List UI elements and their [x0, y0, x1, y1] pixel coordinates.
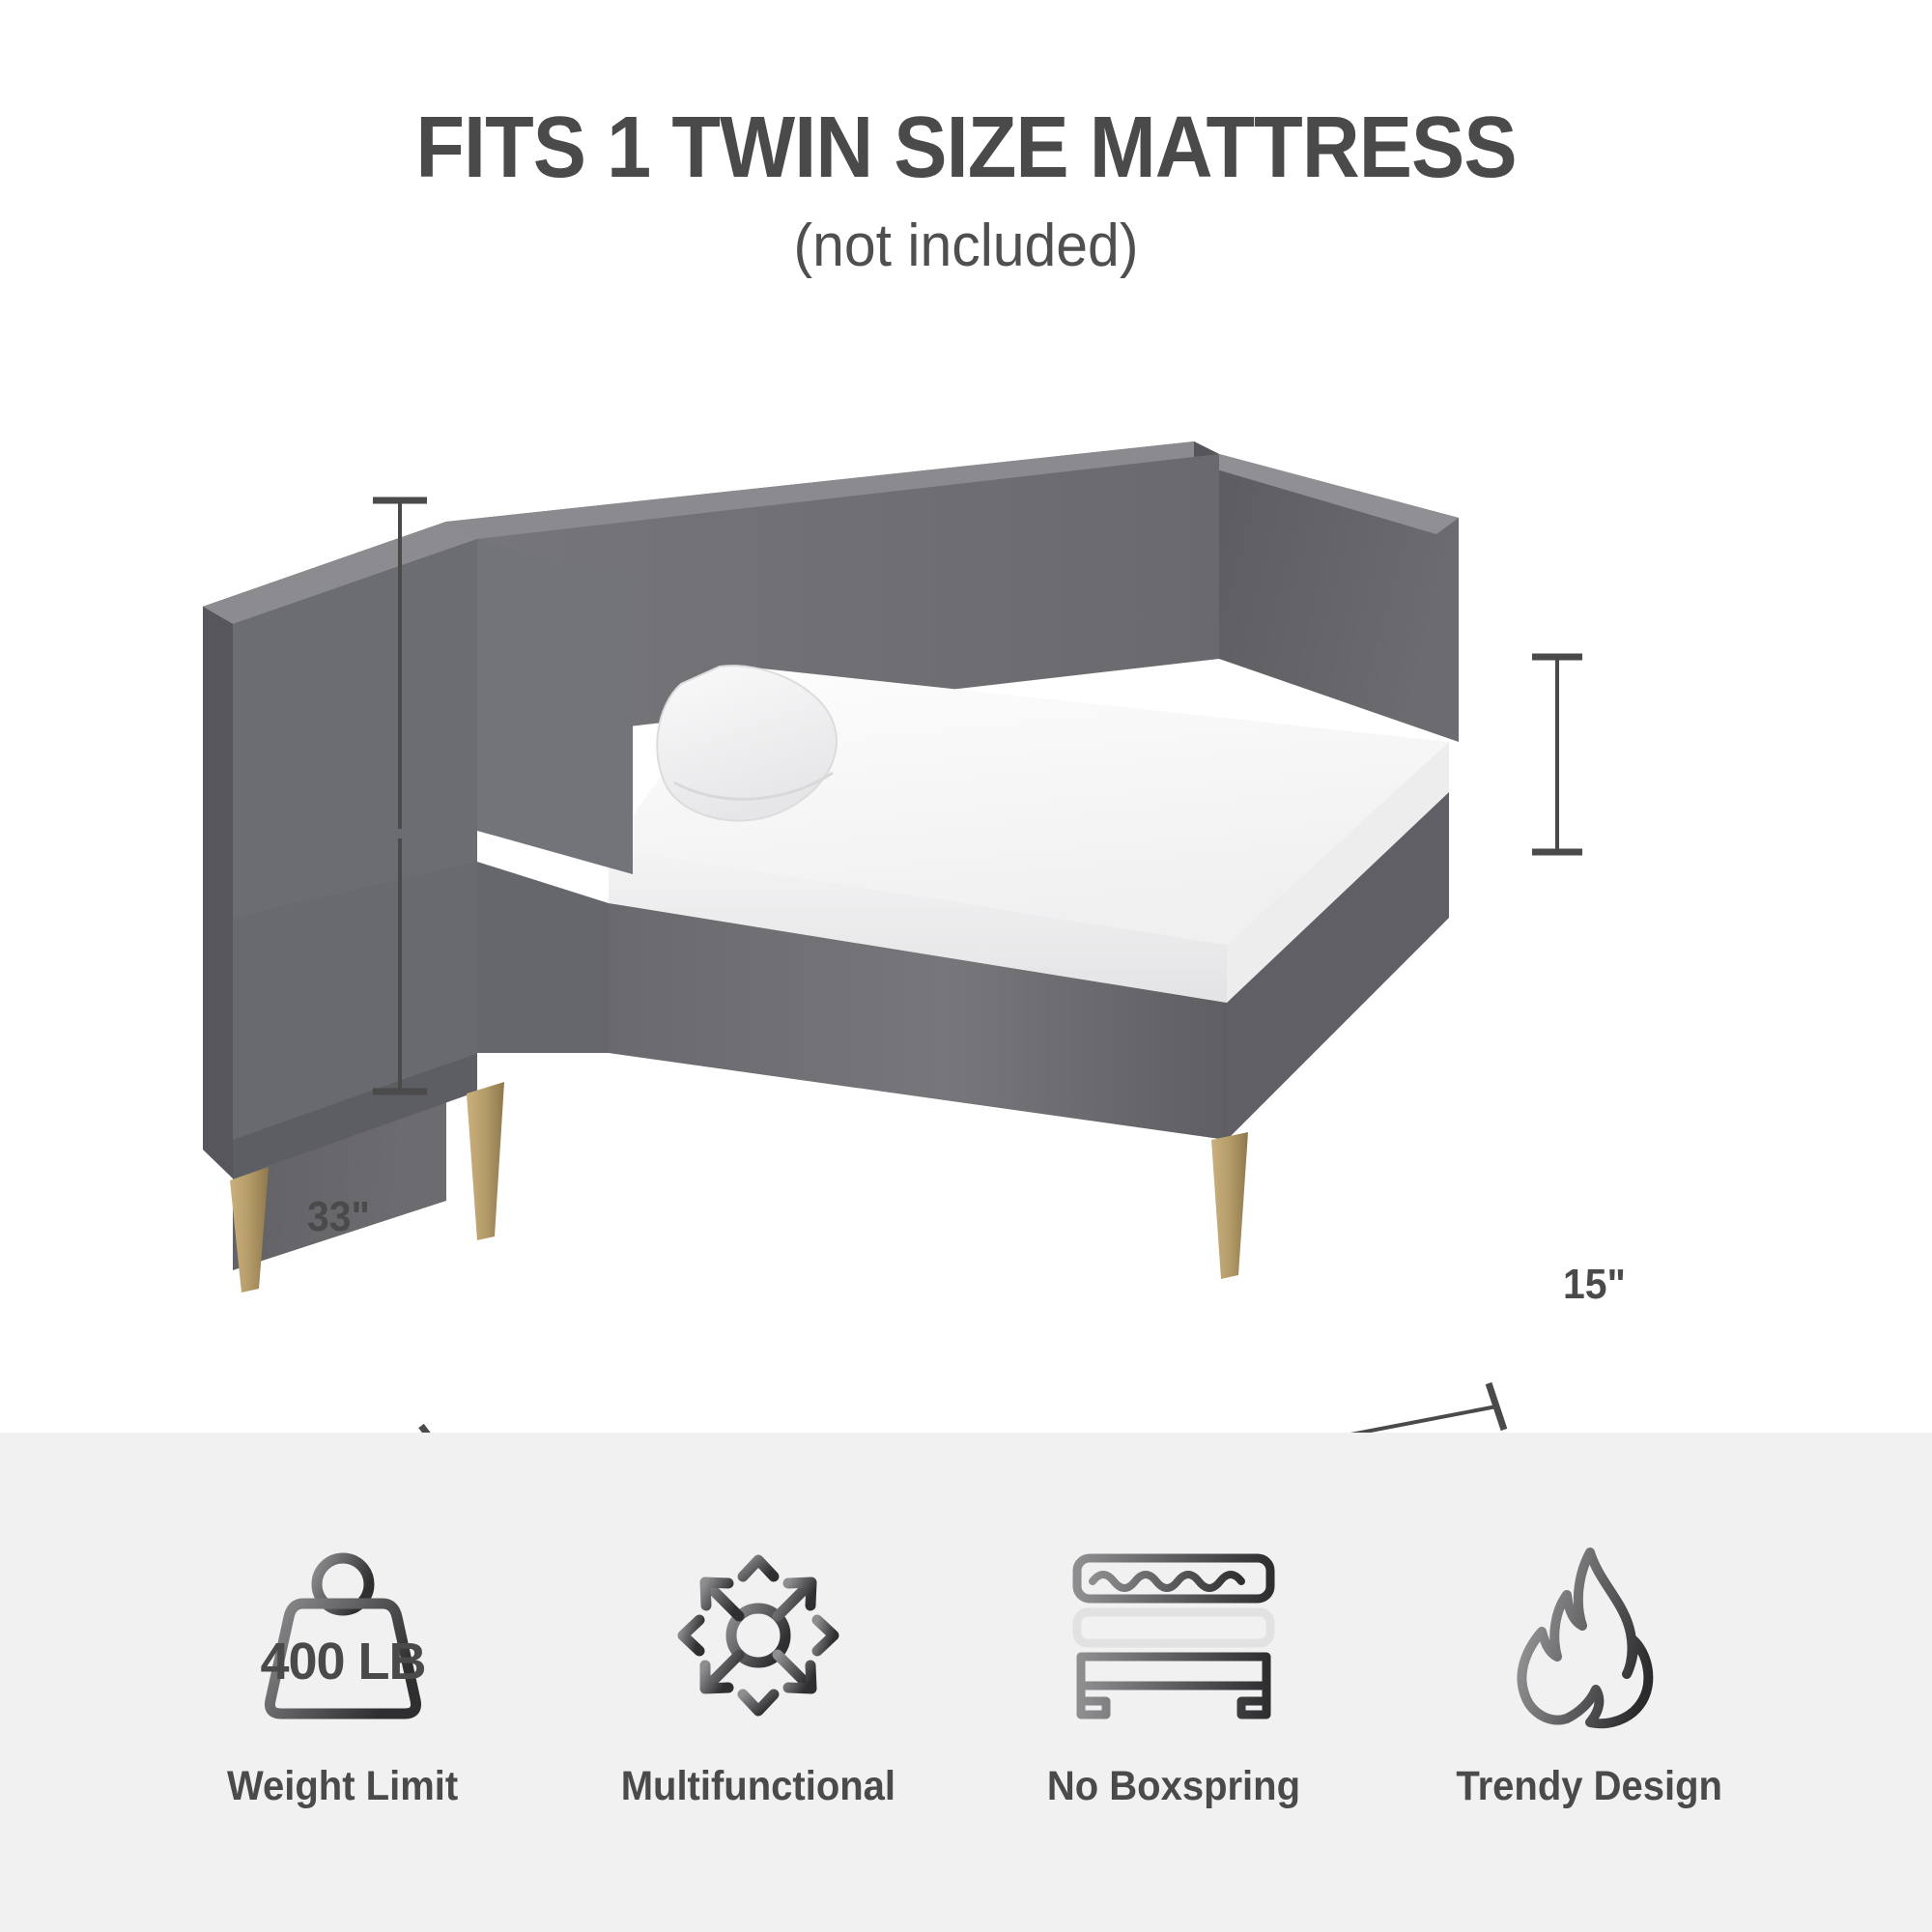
expand-arrows-icon [667, 1529, 850, 1742]
weight-badge-text: 400 LB [260, 1633, 425, 1690]
weight-icon: 400 LB [251, 1529, 435, 1742]
daybed-illustration [0, 377, 1932, 1433]
left-arm-outer-edge [203, 607, 233, 1179]
leg-front-right [1211, 1132, 1248, 1279]
feature-trendy-design: Trendy Design [1381, 1433, 1797, 1810]
infographic-page: FITS 1 TWIN SIZE MATTRESS (not included) [0, 0, 1932, 1932]
leg-front-left [230, 1167, 269, 1293]
feature-label-weight-limit: Weight Limit [227, 1763, 458, 1810]
feature-band: 400 LB Weight Limit [0, 1433, 1932, 1932]
flame-icon [1507, 1529, 1671, 1742]
feature-label-multifunctional: Multifunctional [621, 1763, 895, 1810]
page-subtitle: (not included) [48, 216, 1884, 276]
feature-label-no-boxspring: No Boxspring [1047, 1763, 1300, 1810]
product-stage: 33" 15" 78" 41.5" Pictured with a 6" mat… [0, 377, 1932, 1433]
dimension-label-height: 33" [307, 1193, 370, 1241]
feature-multifunctional: Multifunctional [551, 1433, 966, 1810]
feature-no-boxspring: No Boxspring [966, 1433, 1381, 1810]
feature-label-trendy-design: Trendy Design [1456, 1763, 1722, 1810]
header: FITS 1 TWIN SIZE MATTRESS (not included) [0, 0, 1932, 276]
feature-weight-limit: 400 LB Weight Limit [135, 1433, 551, 1810]
no-boxspring-icon [1067, 1529, 1280, 1742]
dimension-label-deck-height: 15" [1563, 1261, 1626, 1309]
left-arm-inner [477, 539, 633, 874]
page-title: FITS 1 TWIN SIZE MATTRESS [77, 104, 1855, 191]
